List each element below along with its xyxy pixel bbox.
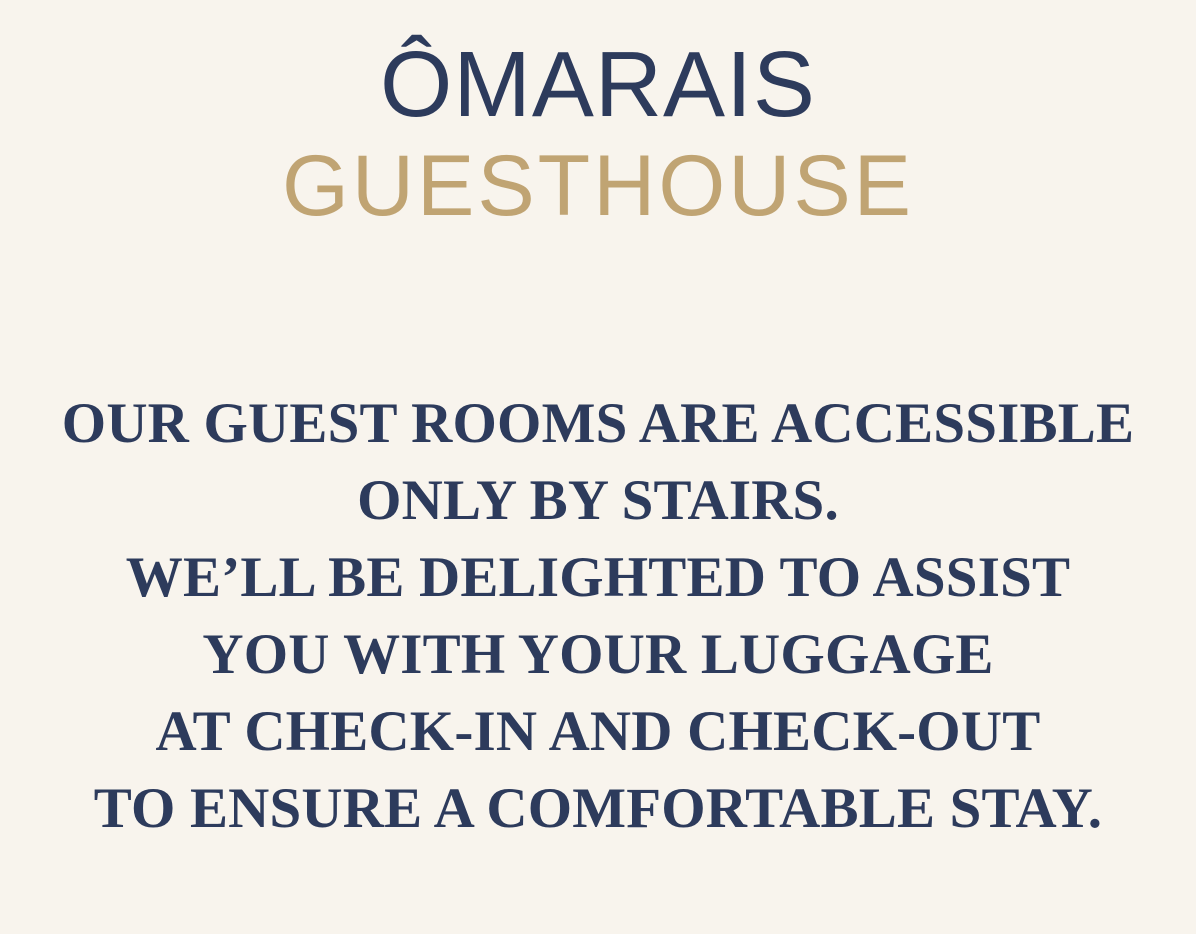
notice-line: OUR GUEST ROOMS ARE ACCESSIBLE	[0, 385, 1196, 462]
notice-line: YOU WITH YOUR LUGGAGE	[0, 616, 1196, 693]
notice-page: ÔMARAIS GUESTHOUSE OUR GUEST ROOMS ARE A…	[0, 0, 1196, 934]
notice-line: TO ENSURE A COMFORTABLE STAY.	[0, 770, 1196, 847]
notice-line: ONLY BY STAIRS.	[0, 462, 1196, 539]
brand-lockup: ÔMARAIS GUESTHOUSE	[0, 36, 1196, 233]
brand-subtitle: GUESTHOUSE	[0, 140, 1196, 233]
notice-line: AT CHECK-IN AND CHECK-OUT	[0, 693, 1196, 770]
notice-line: WE’LL BE DELIGHTED TO ASSIST	[0, 539, 1196, 616]
accessibility-notice: OUR GUEST ROOMS ARE ACCESSIBLE ONLY BY S…	[0, 385, 1196, 847]
brand-name: ÔMARAIS	[0, 36, 1196, 134]
